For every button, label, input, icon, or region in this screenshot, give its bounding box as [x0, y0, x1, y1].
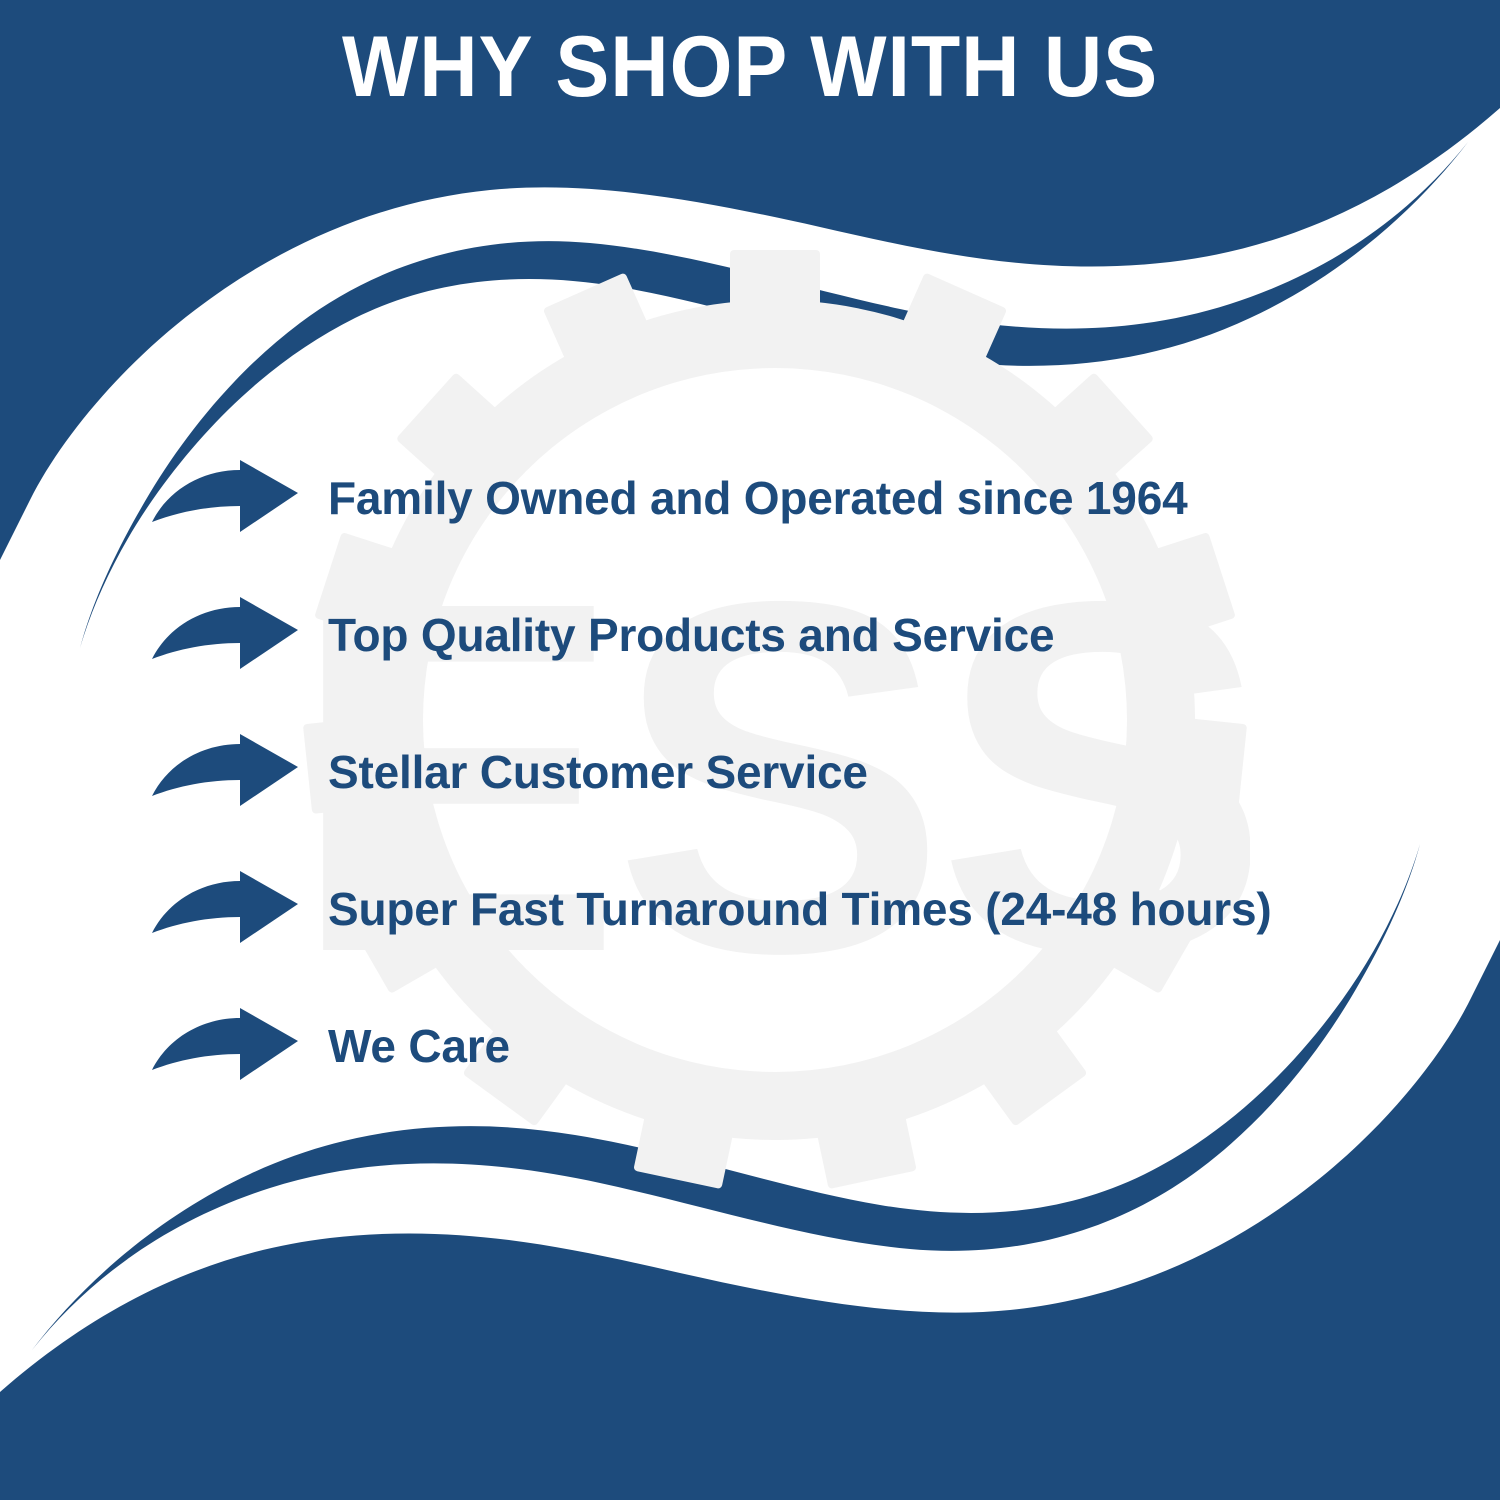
list-item: Stellar Customer Service: [0, 704, 1500, 841]
page-title: WHY SHOP WITH US: [342, 24, 1158, 110]
curved-arrow-right-icon: [150, 871, 300, 949]
curved-arrow-right-icon: [150, 460, 300, 538]
promo-graphic-canvas: ESS WHY SHOP WITH US Family Owned and Op…: [0, 0, 1500, 1500]
list-item: Top Quality Products and Service: [0, 567, 1500, 704]
benefit-label: We Care: [328, 1022, 510, 1070]
curved-arrow-right-icon: [150, 734, 300, 812]
curved-arrow-right-icon: [150, 1008, 300, 1086]
benefit-label: Super Fast Turnaround Times (24-48 hours…: [328, 885, 1272, 933]
benefit-label: Stellar Customer Service: [328, 748, 868, 796]
list-item: Super Fast Turnaround Times (24-48 hours…: [0, 841, 1500, 978]
header-banner: WHY SHOP WITH US: [0, 12, 1500, 122]
benefit-label: Family Owned and Operated since 1964: [328, 474, 1187, 522]
list-item: Family Owned and Operated since 1964: [0, 430, 1500, 567]
list-item: We Care: [0, 978, 1500, 1115]
curved-arrow-right-icon: [150, 597, 300, 675]
benefits-list: Family Owned and Operated since 1964 Top…: [0, 430, 1500, 1115]
benefit-label: Top Quality Products and Service: [328, 611, 1054, 659]
